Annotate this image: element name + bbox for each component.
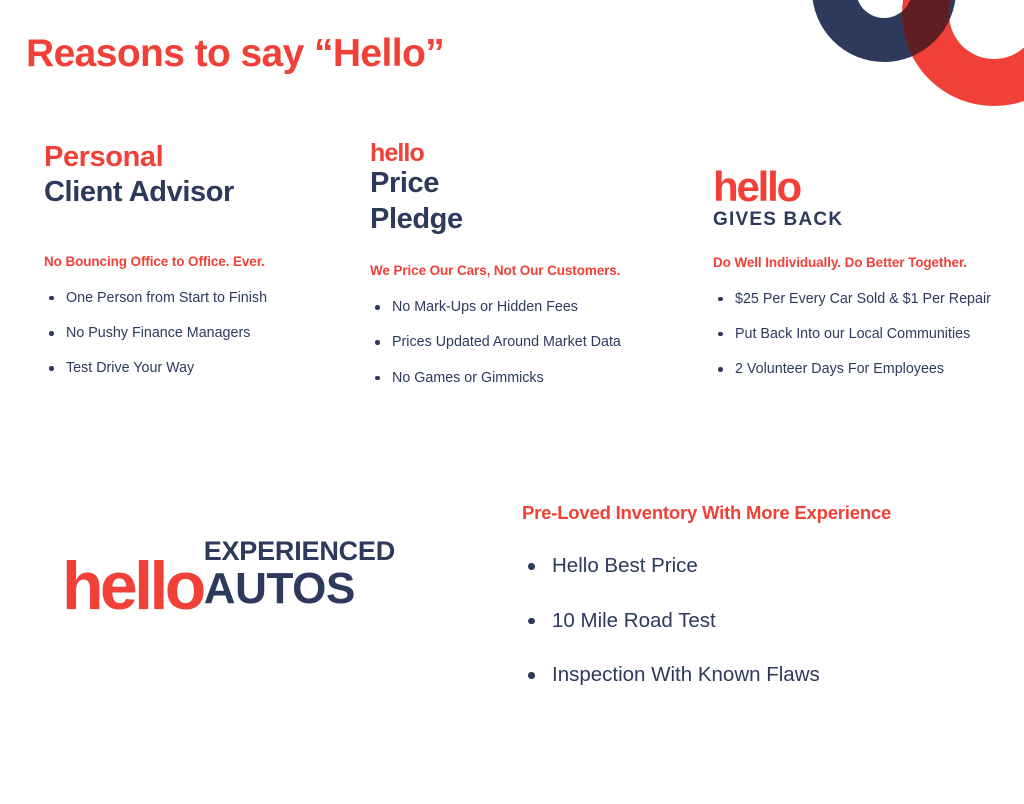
bottom-bullet-list: Hello Best Price 10 Mile Road Test Inspe… <box>522 556 1002 686</box>
heading-line-1: Personal <box>44 140 354 175</box>
column-3-heading: hello GIVES BACK <box>713 140 1013 231</box>
list-item: $25 Per Every Car Sold & $1 Per Repair <box>713 292 1013 306</box>
list-item: Test Drive Your Way <box>44 361 354 375</box>
list-item: One Person from Start to Finish <box>44 291 354 305</box>
list-item: Inspection With Known Flaws <box>522 665 1002 686</box>
pre-loved-inventory-section: Pre-Loved Inventory With More Experience… <box>522 502 1002 686</box>
column-2-heading: hello Price Pledge <box>370 140 690 237</box>
list-item: 10 Mile Road Test <box>522 611 1002 632</box>
hello-wordmark: hello <box>370 140 690 166</box>
hello-experienced-autos-logo: hello EXPERIENCED AUTOS <box>62 538 395 613</box>
list-item: No Games or Gimmicks <box>370 371 690 385</box>
column-3-subheading: Do Well Individually. Do Better Together… <box>713 255 1013 270</box>
column-hello-gives-back: hello GIVES BACK Do Well Individually. D… <box>713 140 1013 376</box>
list-item: No Mark-Ups or Hidden Fees <box>370 300 690 314</box>
column-1-heading: Personal Client Advisor <box>44 140 354 211</box>
column-1-subheading: No Bouncing Office to Office. Ever. <box>44 254 354 269</box>
logo-experienced-text: EXPERIENCED <box>204 538 395 565</box>
list-item: No Pushy Finance Managers <box>44 326 354 340</box>
list-item: Prices Updated Around Market Data <box>370 335 690 349</box>
column-2-bullet-list: No Mark-Ups or Hidden Fees Prices Update… <box>370 300 690 385</box>
column-personal-client-advisor: Personal Client Advisor No Bouncing Offi… <box>44 140 354 376</box>
heading-line-2: Client Advisor <box>44 175 354 210</box>
page-title: Reasons to say “Hello” <box>26 33 444 76</box>
logo-text-stack: EXPERIENCED AUTOS <box>204 538 395 613</box>
heading-line-1: Price <box>370 166 690 201</box>
column-3-bullet-list: $25 Per Every Car Sold & $1 Per Repair P… <box>713 292 1013 377</box>
column-hello-price-pledge: hello Price Pledge We Price Our Cars, No… <box>370 140 690 385</box>
list-item: Put Back Into our Local Communities <box>713 327 1013 341</box>
decorative-rings <box>774 0 1024 120</box>
list-item: 2 Volunteer Days For Employees <box>713 362 1013 376</box>
hello-wordmark: hello <box>713 168 1013 207</box>
list-item: Hello Best Price <box>522 556 1002 577</box>
gives-back-tagline: GIVES BACK <box>713 210 1013 231</box>
bottom-subheading: Pre-Loved Inventory With More Experience <box>522 502 1002 524</box>
logo-autos-text: AUTOS <box>204 567 355 611</box>
heading-line-2: Pledge <box>370 202 690 237</box>
column-2-subheading: We Price Our Cars, Not Our Customers. <box>370 263 690 278</box>
navy-ring-shape <box>812 0 956 62</box>
column-1-bullet-list: One Person from Start to Finish No Pushy… <box>44 291 354 376</box>
red-ring-shape <box>902 0 1024 106</box>
logo-hello-wordmark: hello <box>62 560 203 613</box>
ring-overlap-shape <box>902 0 1024 106</box>
